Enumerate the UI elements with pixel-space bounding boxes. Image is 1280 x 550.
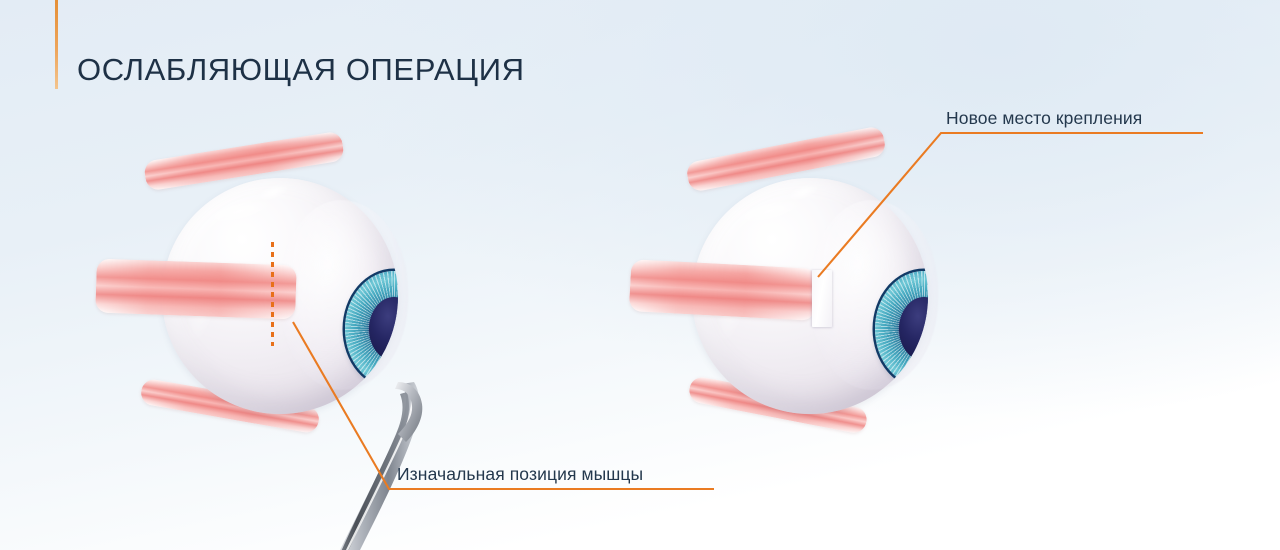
slide-canvas: ОСЛАБЛЯЮЩАЯ ОПЕРАЦИЯ [0,0,1280,550]
pupil [369,297,398,361]
muscle-lateral-rectus [95,259,297,320]
iris [345,271,398,387]
callout-label-original-position: Изначальная позиция мышцы [397,464,643,485]
pupil [899,297,928,361]
title-accent-bar [55,0,58,89]
new-attachment-marker [812,270,832,327]
eye-diagram-after [660,140,960,440]
page-title: ОСЛАБЛЯЮЩАЯ ОПЕРАЦИЯ [77,52,525,88]
callout-label-new-attachment: Новое место крепления [946,108,1142,129]
iris [875,271,928,387]
eye-diagram-before [130,140,430,440]
muscle-lateral-rectus [629,259,817,321]
original-position-dashed-marker [271,242,274,346]
